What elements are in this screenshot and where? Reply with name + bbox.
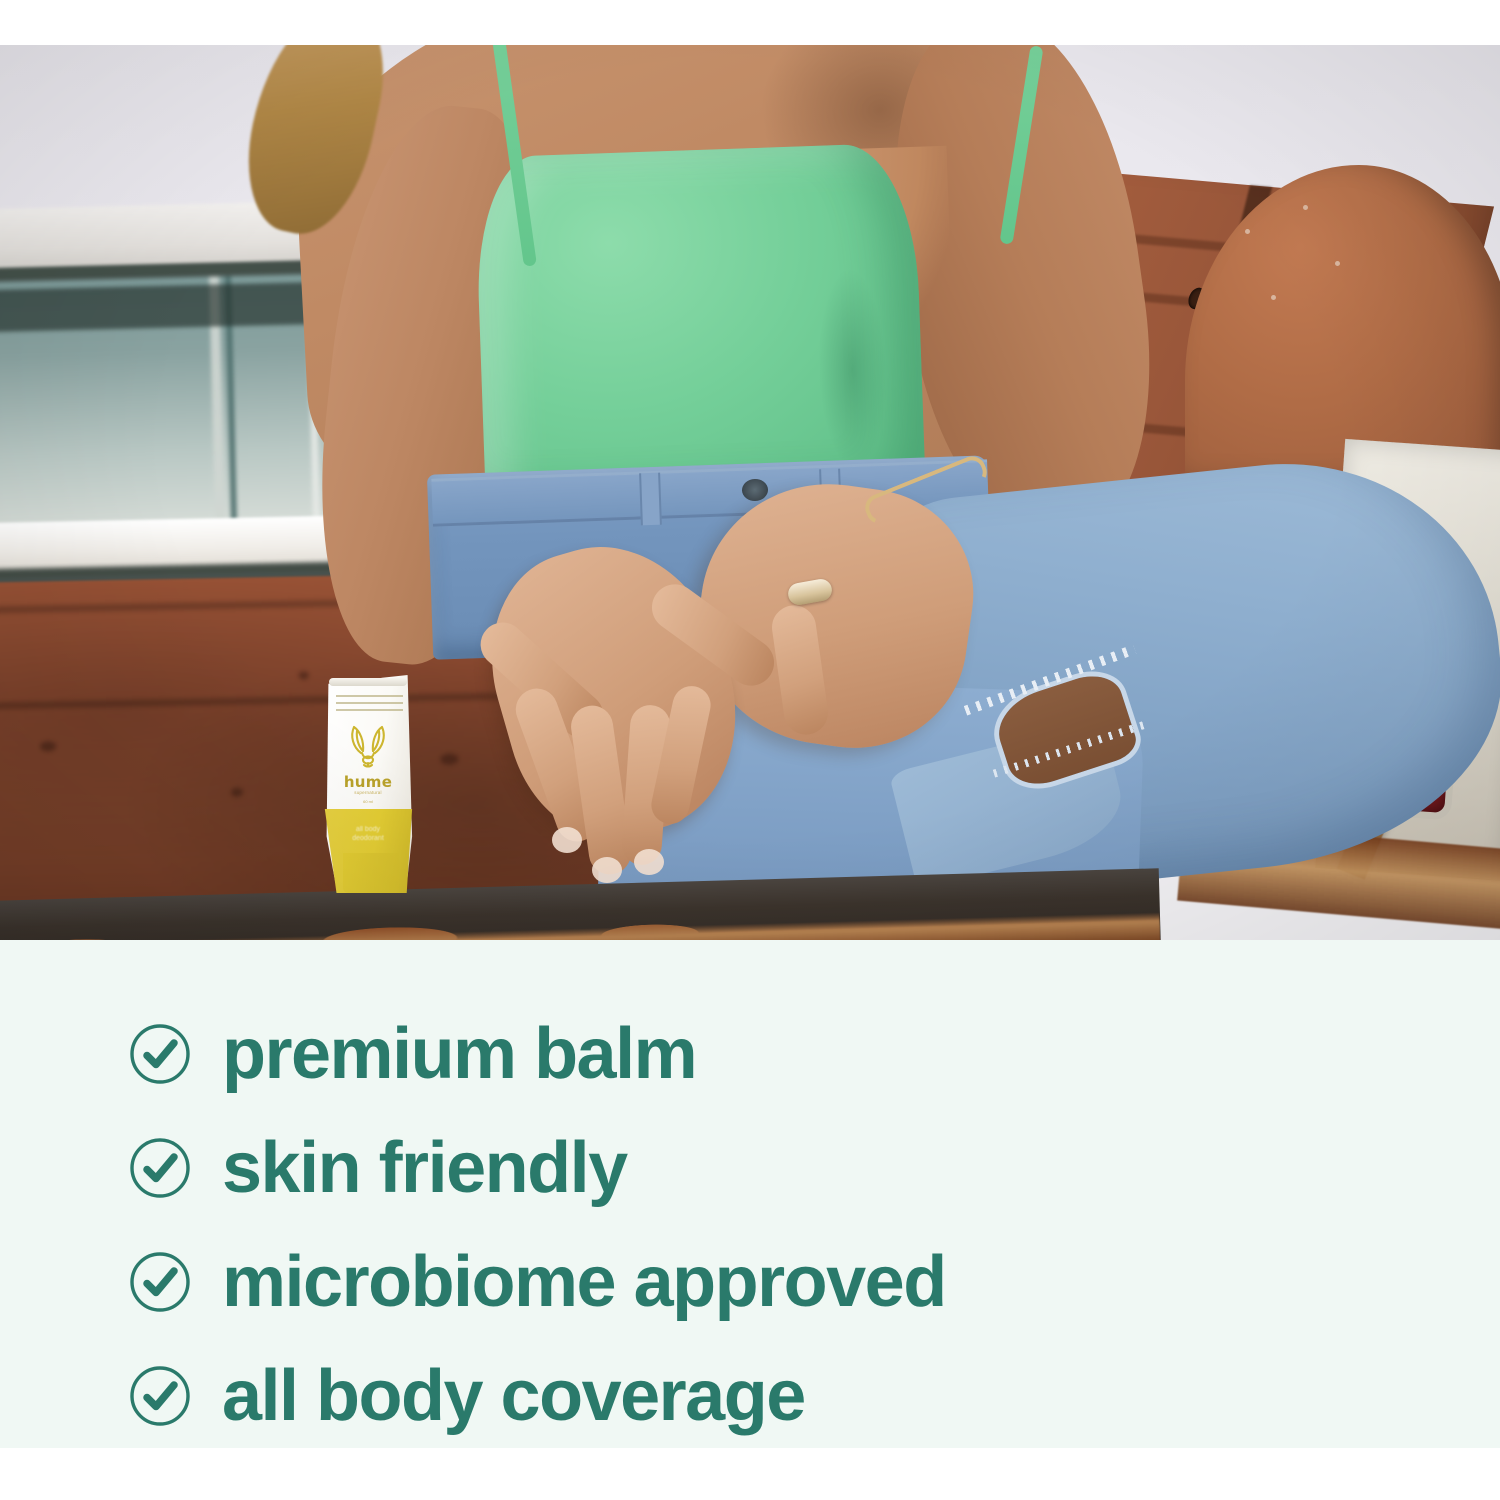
check-circle-icon [128,1022,192,1086]
tube-product-name-line1: all body [323,825,413,834]
tube-cap [343,853,399,893]
rabbit-logo-icon [342,723,394,769]
feature-item-microbiome-approved: microbiome approved [128,1246,1440,1318]
feature-label: premium balm [222,1018,696,1090]
fingernail [552,827,582,853]
feature-item-premium-balm: premium balm [128,1018,1440,1090]
fender-speck [1271,295,1276,300]
feature-label: skin friendly [222,1132,627,1204]
cami-ruching [814,264,891,476]
check-circle-icon [128,1136,192,1200]
tube-brand-name: hume [323,773,413,791]
feature-label: microbiome approved [222,1246,946,1318]
tube-fine-print [336,695,403,711]
fender-speck [1335,261,1340,266]
feature-item-skin-friendly: skin friendly [128,1132,1440,1204]
fingernail [634,849,664,875]
feature-item-all-body-coverage: all body coverage [128,1360,1440,1432]
paint-chip [440,753,458,764]
tube-crimp-seal [329,678,407,686]
fingernail [592,857,622,883]
fender-speck [1303,205,1308,210]
feature-list: premium balm skin friendly microbiome ap… [128,1018,1440,1432]
lifestyle-photo: hume supernatural 60 ml all body deodora… [0,45,1500,940]
features-panel: premium balm skin friendly microbiome ap… [0,940,1500,1448]
product-tube: hume supernatural 60 ml all body deodora… [323,675,413,893]
feature-label: all body coverage [222,1360,805,1432]
check-circle-icon [128,1364,192,1428]
jeans-belt-loop [639,473,662,526]
tube-product-name-line2: deodorant [323,834,413,843]
check-circle-icon [128,1250,192,1314]
paint-chip [299,671,309,679]
tube-volume: 60 ml [323,799,413,804]
tube-product-name: all body deodorant [323,825,413,843]
paint-chip [231,788,243,797]
fender-speck [1245,229,1250,234]
paint-chip [40,741,56,751]
product-marketing-image: hume supernatural 60 ml all body deodora… [0,0,1500,1500]
tube-brand-tagline: supernatural [323,790,413,795]
